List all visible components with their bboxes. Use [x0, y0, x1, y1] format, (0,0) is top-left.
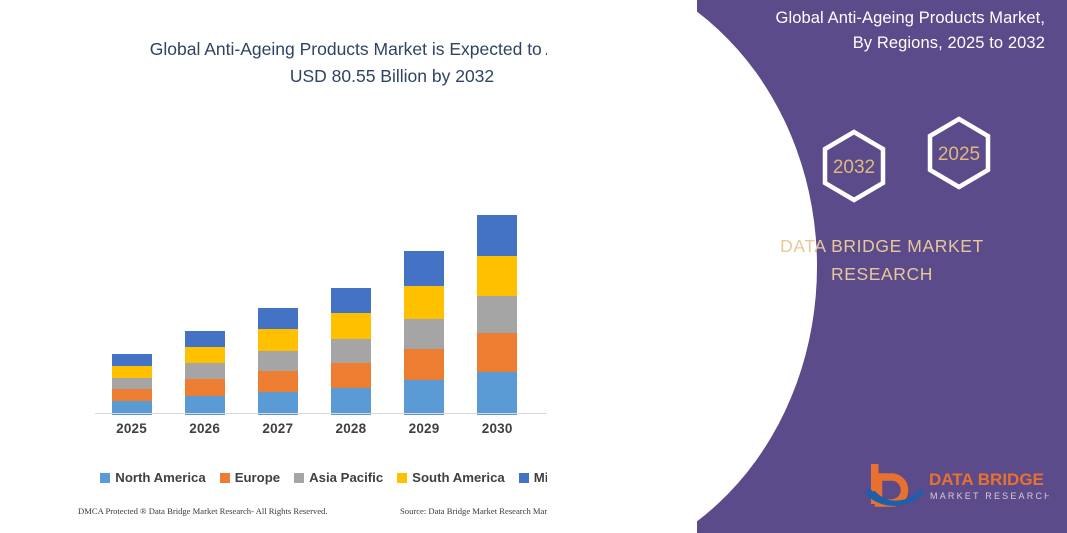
bar-segment[interactable]: [477, 256, 517, 296]
bar-segment[interactable]: [331, 339, 371, 363]
legend-item-europe[interactable]: Europe: [220, 470, 280, 485]
brand-name-line1: DATA BRIDGE MARKET: [697, 232, 1067, 260]
footer-copyright: DMCA Protected ® Data Bridge Market Rese…: [78, 506, 328, 516]
legend-label: South America: [412, 470, 505, 485]
bar-column-2025[interactable]: [112, 354, 152, 415]
bar-segment[interactable]: [404, 349, 444, 380]
bar-segment[interactable]: [185, 331, 225, 347]
legend-swatch-icon: [397, 473, 407, 483]
panel-title-line2: By Regions, 2025 to 2032: [853, 34, 1045, 52]
data-bridge-logo: DATA BRIDGE MARKET RESEARCH: [863, 461, 1049, 511]
bar-segment[interactable]: [258, 392, 298, 415]
bar-segment[interactable]: [477, 296, 517, 333]
bar-segment[interactable]: [185, 379, 225, 396]
x-axis-label-2025: 2025: [96, 421, 168, 436]
bar-segment[interactable]: [185, 347, 225, 363]
legend-item-asia-pacific[interactable]: Asia Pacific: [294, 470, 383, 485]
bar-segment[interactable]: [112, 378, 152, 389]
hexagon-2025-label: 2025: [938, 144, 980, 165]
bar-segment[interactable]: [185, 363, 225, 379]
panel-title: Global Anti-Ageing Products Market, By R…: [715, 6, 1045, 56]
panel-title-line1: Global Anti-Ageing Products Market,: [776, 9, 1045, 27]
logo-text-line1: DATA BRIDGE: [929, 470, 1044, 489]
bar-segment[interactable]: [331, 313, 371, 339]
bar-segment[interactable]: [258, 308, 298, 329]
logo-text-line2: MARKET RESEARCH: [930, 491, 1049, 501]
legend-swatch-icon: [294, 473, 304, 483]
brand-panel-content: Global Anti-Ageing Products Market, By R…: [697, 0, 1067, 533]
brand-name-line2: RESEARCH: [697, 260, 1067, 288]
legend-item-south-america[interactable]: South America: [397, 470, 505, 485]
x-axis-label-2027: 2027: [242, 421, 314, 436]
bar-segment[interactable]: [331, 363, 371, 388]
bar-segment[interactable]: [477, 215, 517, 256]
bar-segment[interactable]: [404, 319, 444, 349]
bar-column-2027[interactable]: [258, 308, 298, 415]
legend-label: Europe: [235, 470, 280, 485]
x-axis-label-2026: 2026: [169, 421, 241, 436]
x-axis-label-2029: 2029: [388, 421, 460, 436]
bar-segment[interactable]: [112, 354, 152, 366]
legend-swatch-icon: [220, 473, 230, 483]
logo-svg: DATA BRIDGE MARKET RESEARCH: [863, 461, 1049, 511]
legend-label: Asia Pacific: [309, 470, 383, 485]
bar-segment[interactable]: [331, 288, 371, 313]
bar-segment[interactable]: [477, 372, 517, 415]
bar-segment[interactable]: [112, 366, 152, 378]
legend-swatch-icon: [100, 473, 110, 483]
x-axis-label-2030: 2030: [461, 421, 533, 436]
bar-segment[interactable]: [477, 333, 517, 372]
year-hexagons: 2025 2032: [807, 104, 1007, 214]
bar-column-2030[interactable]: [477, 215, 517, 415]
brand-panel: Global Anti-Ageing Products Market, By R…: [697, 0, 1067, 533]
legend-label: North America: [115, 470, 205, 485]
bar-segment[interactable]: [258, 329, 298, 351]
bar-segment[interactable]: [258, 351, 298, 371]
legend-item-north-america[interactable]: North America: [100, 470, 205, 485]
bar-segment[interactable]: [258, 371, 298, 392]
hexagon-2032-label: 2032: [833, 157, 875, 178]
bar-segment[interactable]: [331, 388, 371, 415]
infographic-page: Global Anti-Ageing Products Market is Ex…: [0, 0, 1067, 533]
hexagons-svg: 2025 2032: [807, 104, 1007, 214]
bar-column-2029[interactable]: [404, 251, 444, 415]
bar-column-2026[interactable]: [185, 331, 225, 415]
brand-name: DATA BRIDGE MARKET RESEARCH: [697, 232, 1067, 288]
x-axis-label-2028: 2028: [315, 421, 387, 436]
bar-segment[interactable]: [404, 251, 444, 286]
legend-swatch-icon: [519, 473, 529, 483]
bar-column-2028[interactable]: [331, 288, 371, 415]
bar-segment[interactable]: [404, 286, 444, 319]
page-title-line2: USD 80.55 Billion by 2032: [290, 66, 494, 86]
bar-segment[interactable]: [404, 380, 444, 415]
bar-segment[interactable]: [112, 389, 152, 401]
